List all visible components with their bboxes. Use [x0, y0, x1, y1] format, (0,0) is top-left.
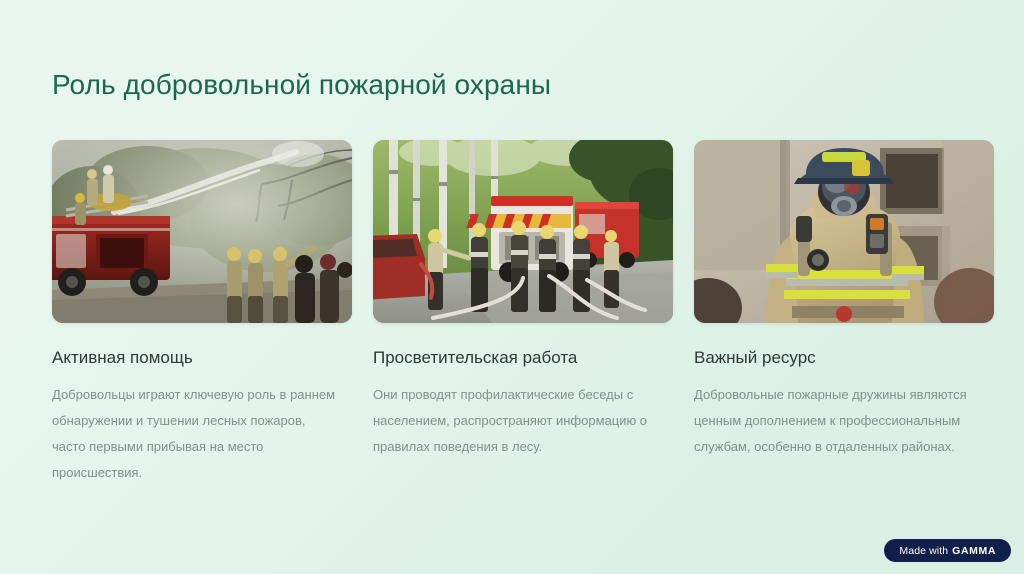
column-3: Важный ресурс Добровольные пожарные друж… — [694, 140, 994, 486]
card-heading: Просветительская работа — [373, 347, 673, 369]
firefighters-with-hoses-forest-road-photo — [373, 140, 673, 323]
firefighter-in-scba-gear-photo — [694, 140, 994, 323]
card-heading: Активная помощь — [52, 347, 352, 369]
column-1: Активная помощь Добровольцы играют ключе… — [52, 140, 352, 486]
columns-container: Активная помощь Добровольцы играют ключе… — [52, 140, 972, 486]
slide-root: Роль добровольной пожарной охраны — [0, 0, 1024, 574]
card-body: Добровольные пожарные дружины являются ц… — [694, 382, 984, 460]
card-body: Они проводят профилактические беседы с н… — [373, 382, 663, 460]
column-2: Просветительская работа Они проводят про… — [373, 140, 673, 486]
badge-brand-label: GAMMA — [952, 545, 996, 557]
card-body: Добровольцы играют ключевую роль в ранне… — [52, 382, 342, 486]
page-title: Роль добровольной пожарной охраны — [52, 68, 551, 102]
badge-prefix-label: Made with — [899, 545, 948, 557]
fire-truck-spraying-water-photo — [52, 140, 352, 323]
card-heading: Важный ресурс — [694, 347, 994, 369]
made-with-gamma-badge[interactable]: Made with GAMMA — [884, 539, 1011, 562]
